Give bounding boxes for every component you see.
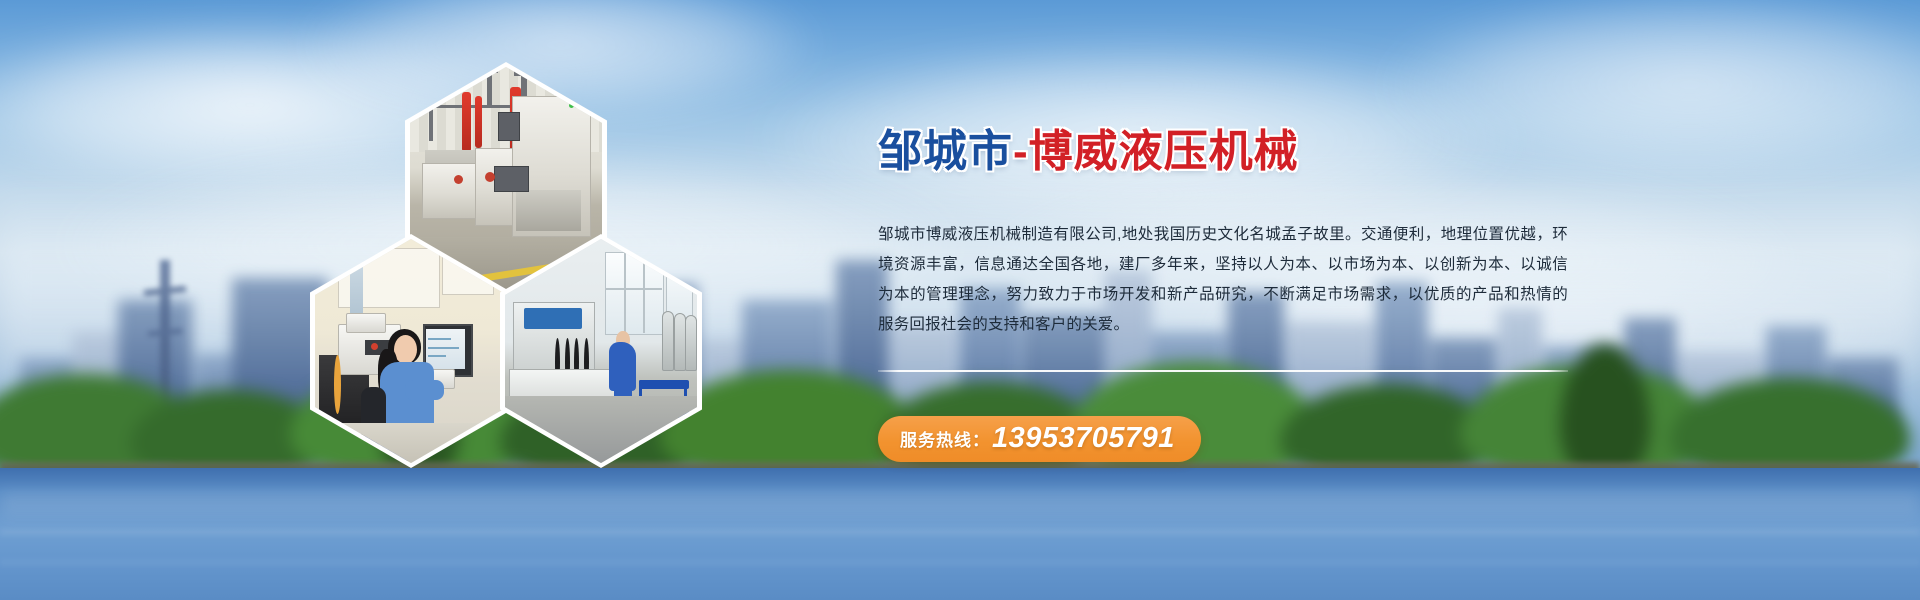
hotline-label: 服务热线： <box>900 426 990 451</box>
banner-stage: 邹城市-博威液压机械 邹城市博威液压机械制造有限公司,地处我国历史文化名城孟子故… <box>0 0 1920 600</box>
hexagon-photo-cluster <box>310 62 700 462</box>
company-description-text: 邹城市博威液压机械制造有限公司,地处我国历史文化名城孟子故里。交通便利，地理位置… <box>878 220 1568 340</box>
banner-content: 邹城市-博威液压机械 邹城市博威液压机械制造有限公司,地处我国历史文化名城孟子故… <box>878 128 1578 462</box>
page-title: 邹城市-博威液压机械 <box>878 128 1578 176</box>
content-divider <box>878 370 1568 372</box>
background-water <box>0 468 1920 600</box>
hotline-number: 13953705791 <box>992 424 1175 453</box>
hotline-button[interactable]: 服务热线： 13953705791 <box>878 416 1201 462</box>
company-description: 邹城市博威液压机械制造有限公司,地处我国历史文化名城孟子故里。交通便利，地理位置… <box>878 220 1568 340</box>
title-part-brand: -博威液压机械 <box>1013 127 1299 176</box>
title-part-city: 邹城市 <box>878 127 1013 176</box>
